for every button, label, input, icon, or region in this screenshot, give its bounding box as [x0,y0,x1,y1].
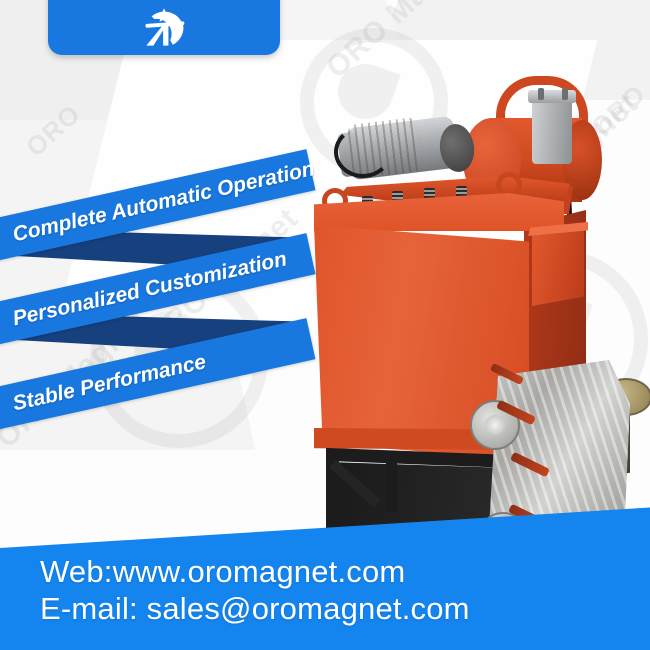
email-line: E-mail: sales@oromagnet.com [40,590,640,627]
tank-top [314,193,564,231]
website-line: Web:www.oromagnet.com [40,553,640,590]
bolt [562,88,568,100]
control-box [532,228,584,306]
motor-cable [334,126,392,178]
valve-cap [528,90,576,103]
brand-badge [48,0,280,55]
oro-magnet-logo-icon [137,4,191,50]
product-banner: ORO Magnet ORO Magnet ORO Magnet ORO Mag… [0,0,650,650]
product-image [300,60,650,560]
frame-leg [386,460,397,512]
contact-text: Web:www.oromagnet.com E-mail: sales@orom… [40,553,640,627]
valve-housing [532,98,572,164]
bolt [538,88,544,100]
